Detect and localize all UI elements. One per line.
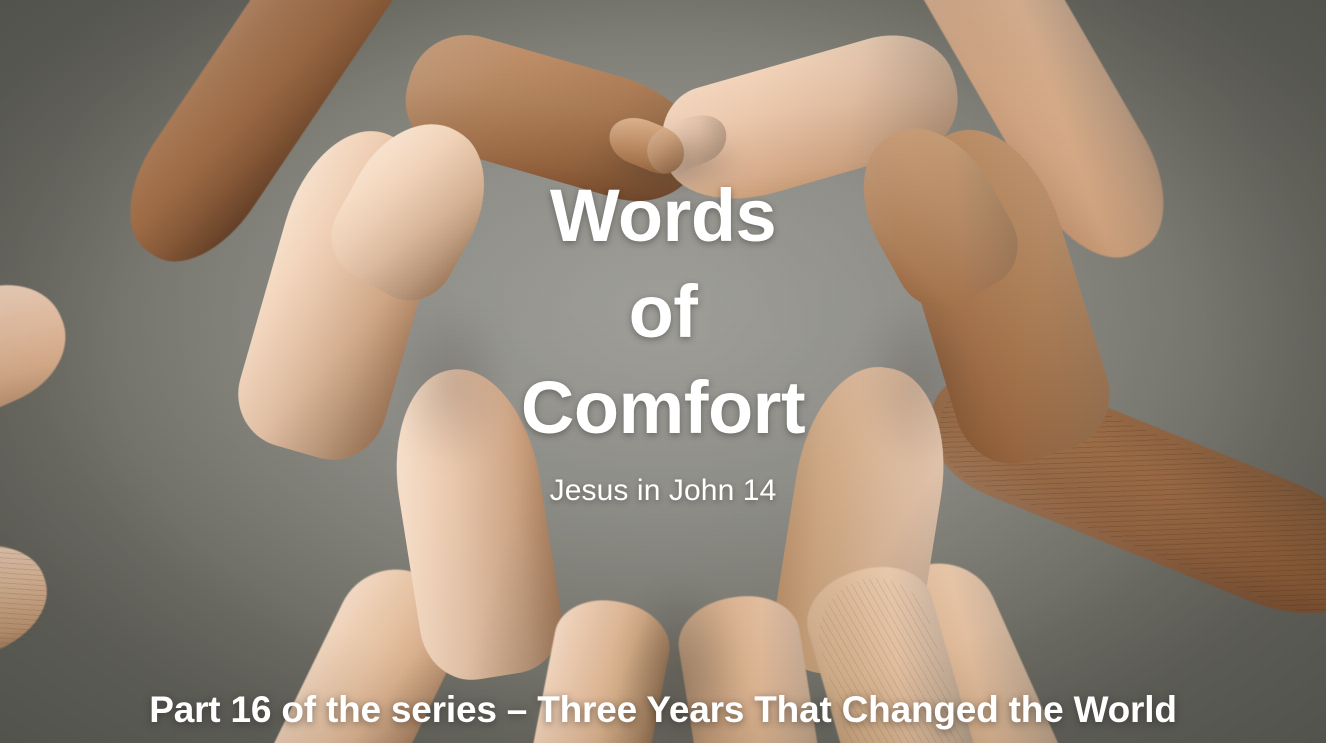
slide-subtitle: Jesus in John 14 bbox=[0, 474, 1326, 508]
slide-title: Words of Comfort bbox=[0, 168, 1326, 457]
sermon-title-slide: Words of Comfort Jesus in John 14 Part 1… bbox=[0, 0, 1326, 743]
title-line-2: of bbox=[0, 264, 1326, 360]
title-line-1: Words bbox=[0, 168, 1326, 264]
series-banner-text: Part 16 of the series – Three Years That… bbox=[0, 689, 1326, 731]
text-overlay: Words of Comfort Jesus in John 14 Part 1… bbox=[0, 0, 1326, 743]
title-line-3: Comfort bbox=[0, 360, 1326, 456]
